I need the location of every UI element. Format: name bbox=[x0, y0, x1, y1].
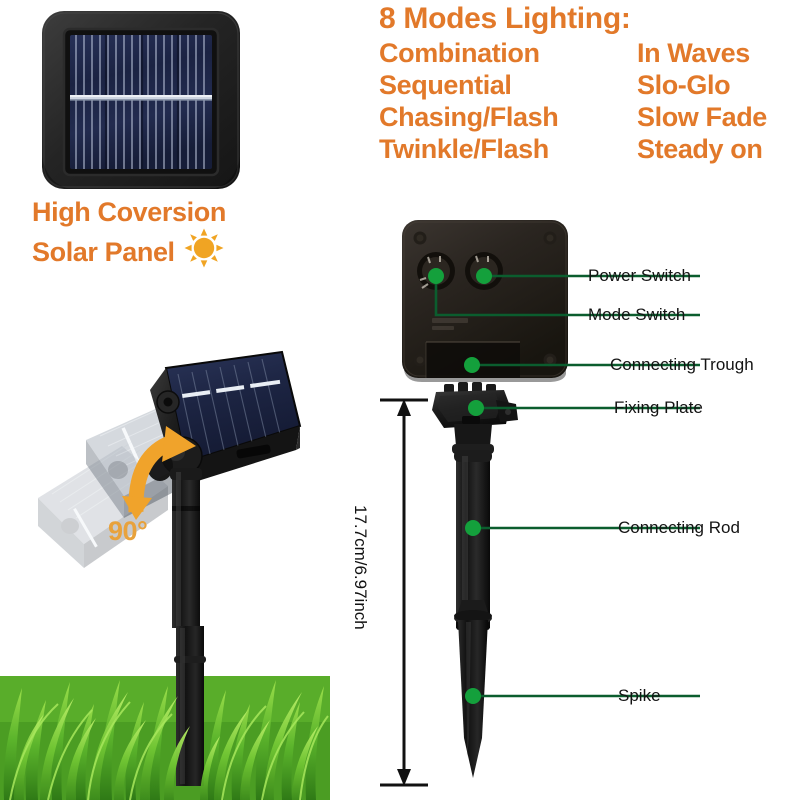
mode-item-combination: Combination bbox=[379, 37, 637, 69]
mode-item-slo-glo: Slo-Glo bbox=[637, 69, 797, 101]
dot-fixing-plate bbox=[468, 400, 484, 416]
dot-connecting-rod bbox=[465, 520, 481, 536]
rotation-angle-label: 90° bbox=[108, 516, 147, 547]
mode-item-slow-fade: Slow Fade bbox=[637, 101, 797, 133]
dot-spike bbox=[465, 688, 481, 704]
sun-icon bbox=[184, 228, 224, 275]
mode-item-sequential: Sequential bbox=[379, 69, 637, 101]
dot-mode-switch bbox=[428, 268, 444, 284]
grass-illustration bbox=[0, 626, 330, 800]
rotation-illustration bbox=[0, 330, 310, 630]
mode-item-in-waves: In Waves bbox=[637, 37, 797, 69]
spike-part bbox=[454, 596, 492, 778]
callout-power-switch: Power Switch bbox=[588, 266, 691, 286]
dot-power-switch bbox=[476, 268, 492, 284]
mode-item-chasing-flash: Chasing/Flash bbox=[379, 101, 637, 133]
modes-list: Combination In Waves Sequential Slo-Glo … bbox=[379, 37, 797, 165]
callout-fixing-plate: Fixing Plate bbox=[614, 398, 703, 418]
solar-panel-caption-line2-wrap: Solar Panel bbox=[32, 228, 332, 275]
callout-connecting-rod: Connecting Rod bbox=[618, 518, 740, 538]
dimension-label: 17.7cm/6.97inch bbox=[350, 505, 370, 529]
solar-unit-back bbox=[402, 220, 568, 382]
modes-title: 8 Modes Lighting: bbox=[379, 2, 797, 36]
mode-item-twinkle-flash: Twinkle/Flash bbox=[379, 133, 637, 165]
infographic-page: 8 Modes Lighting: Combination In Waves S… bbox=[0, 0, 800, 800]
exploded-diagram bbox=[370, 218, 800, 798]
mode-item-steady-on: Steady on bbox=[637, 133, 797, 165]
dot-connecting-trough bbox=[464, 357, 480, 373]
callout-mode-switch: Mode Switch bbox=[588, 305, 685, 325]
modes-block: 8 Modes Lighting: Combination In Waves S… bbox=[379, 2, 797, 165]
solar-panel-photo bbox=[34, 7, 248, 193]
solar-panel-caption: High Coversion Solar Panel bbox=[32, 196, 332, 275]
fixing-plate-part bbox=[432, 382, 518, 454]
dimension-arrow bbox=[380, 399, 428, 786]
callout-spike: Spike bbox=[618, 686, 661, 706]
callout-connecting-trough: Connecting Trough bbox=[610, 355, 754, 375]
solar-panel-caption-line2: Solar Panel bbox=[32, 237, 175, 267]
solar-panel-caption-line1: High Coversion bbox=[32, 196, 332, 228]
